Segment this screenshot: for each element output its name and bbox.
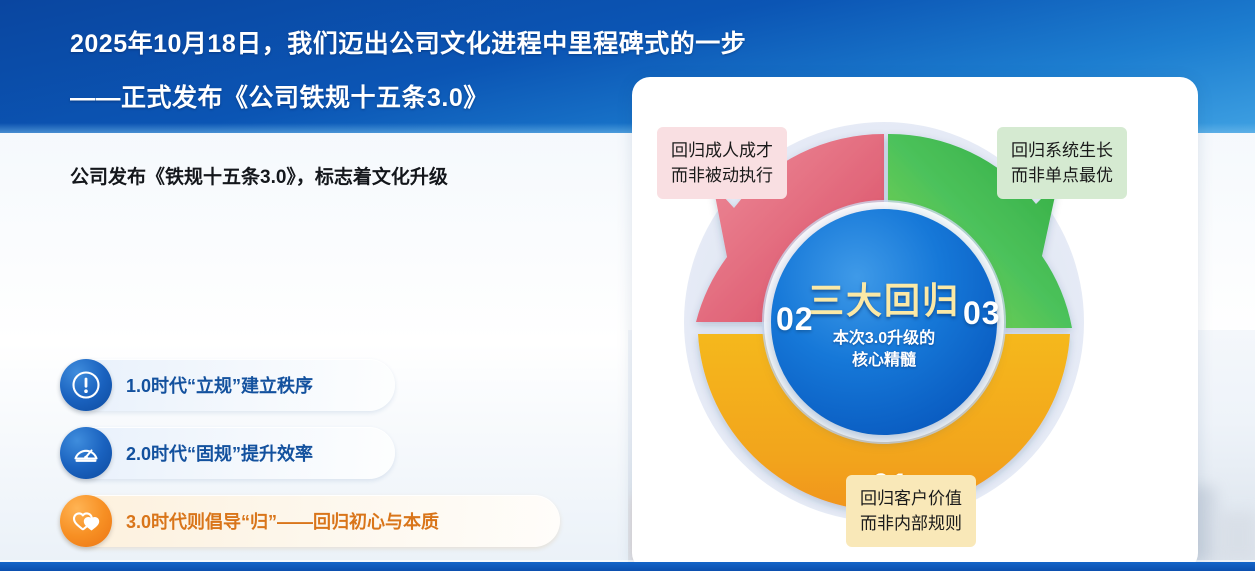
double-heart-icon [60, 495, 112, 547]
era-item-2[interactable]: 2.0时代“固规”提升效率 [60, 427, 395, 479]
segment-02-number: 02 [776, 301, 814, 338]
segment-01-label-line-1: 回归客户价值 [860, 486, 962, 511]
era-item-3-label: 3.0时代则倡导“归”——回归初心与本质 [112, 508, 463, 534]
header-title-line-2: ——正式发布《公司铁规十五条3.0》 [70, 78, 489, 114]
header-title-line-1: 2025年10月18日，我们迈出公司文化进程中里程碑式的一步 [70, 24, 746, 60]
hub-title: 三大回归 [808, 272, 960, 324]
segment-01-label-line-2: 而非内部规则 [860, 511, 962, 536]
hub-subtitle: 本次3.0升级的 核心精髓 [833, 328, 935, 372]
left-content-column: 公司发布《铁规十五条3.0》，标志着文化升级 1.0时代“立规”建立秩序 [0, 133, 628, 571]
exclamation-circle-icon [60, 359, 112, 411]
segment-03-label: 回归系统生长 而非单点最优 [997, 127, 1127, 199]
segment-02-label: 回归成人成才 而非被动执行 [657, 127, 787, 199]
era-item-3[interactable]: 3.0时代则倡导“归”——回归初心与本质 [60, 495, 560, 547]
segment-02-label-line-2: 而非被动执行 [671, 163, 773, 188]
lead-statement: 公司发布《铁规十五条3.0》，标志着文化升级 [70, 162, 448, 189]
segment-02-label-line-1: 回归成人成才 [671, 138, 773, 163]
footer-rule [0, 562, 1255, 571]
era-item-2-label: 2.0时代“固规”提升效率 [112, 440, 337, 466]
speedometer-icon [60, 427, 112, 479]
segment-03-number: 03 [963, 295, 1001, 332]
slide-canvas: 2025年10月18日，我们迈出公司文化进程中里程碑式的一步 ——正式发布《公司… [0, 0, 1255, 571]
hub-subtitle-line-1: 本次3.0升级的 [833, 328, 935, 350]
era-item-1-label: 1.0时代“立规”建立秩序 [112, 372, 337, 398]
building-blob [1218, 512, 1255, 562]
hub-subtitle-line-2: 核心精髓 [833, 350, 935, 372]
diagram-card: 三大回归 本次3.0升级的 核心精髓 02 03 01 回归成人成才 而非被动执… [632, 77, 1198, 571]
segment-03-label-line-2: 而非单点最优 [1011, 163, 1113, 188]
segment-03-label-line-1: 回归系统生长 [1011, 138, 1113, 163]
segment-01-label: 回归客户价值 而非内部规则 [846, 475, 976, 547]
era-item-1[interactable]: 1.0时代“立规”建立秩序 [60, 359, 395, 411]
